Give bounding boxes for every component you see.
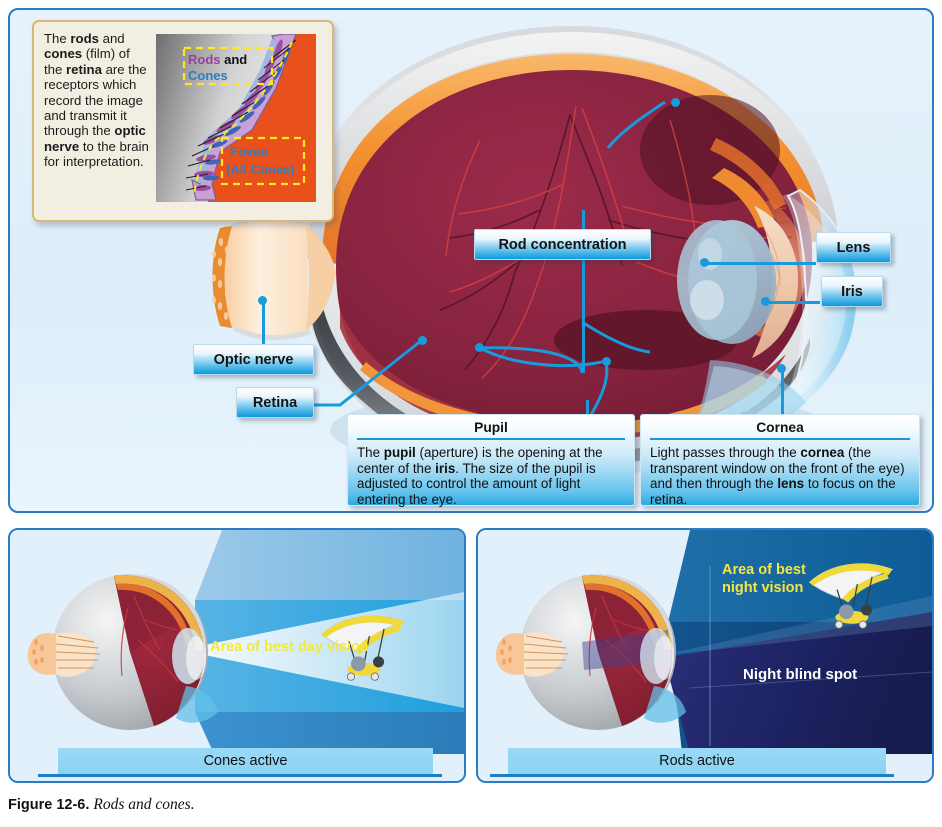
callout-iris-label: Iris — [841, 284, 863, 300]
night-vision-label-line1: Area of best — [722, 561, 806, 579]
description-cornea: Cornea Light passes through the cornea (… — [640, 414, 920, 506]
night-caption-text: Rods active — [659, 753, 735, 769]
callout-retina[interactable]: Retina — [236, 387, 314, 418]
night-vision-panel: Area of best night vision Night blind sp… — [476, 528, 934, 783]
inset-label-rods: Rods and — [188, 52, 247, 67]
rods-and-cones-inset-card: The rods and cones (film) of the retina … — [32, 20, 334, 222]
day-panel-caption: Cones active — [58, 748, 433, 774]
leader-dot-optic-nerve — [258, 296, 267, 305]
leader-dot-iris — [761, 297, 770, 306]
night-panel-caption: Rods active — [508, 748, 886, 774]
day-vision-label: Area of best day vision — [210, 638, 369, 656]
description-pupil-body: The pupil (aperture) is the opening at t… — [357, 445, 625, 507]
callout-lens-label: Lens — [837, 240, 871, 256]
inset-label-fovea-1: Fovea — [230, 144, 268, 159]
callout-lens[interactable]: Lens — [816, 232, 891, 263]
description-cornea-title: Cornea — [650, 420, 910, 440]
day-caption-text: Cones active — [204, 753, 288, 769]
night-blind-spot-label: Night blind spot — [743, 666, 857, 683]
day-vision-panel: Area of best day vision Cones active — [8, 528, 466, 783]
inset-label-cones: Cones — [188, 68, 228, 83]
night-vision-illustration — [478, 530, 932, 781]
leader-dot-lens — [700, 258, 709, 267]
callout-optic-nerve[interactable]: Optic nerve — [193, 344, 314, 375]
leader-dot-cornea — [777, 364, 786, 373]
inset-label-fovea-2: (All Cones) — [226, 162, 295, 177]
leader-lens — [704, 262, 816, 265]
callout-optic-nerve-label: Optic nerve — [214, 352, 294, 368]
leader-optic-nerve — [262, 300, 265, 350]
leader-iris — [765, 301, 820, 304]
figure-number: Figure 12-6. — [8, 797, 89, 813]
figure-title: Rods and cones. — [93, 796, 194, 813]
inset-retina-diagram: Rods and Cones Fovea (All Cones) — [156, 34, 316, 202]
description-pupil-title: Pupil — [357, 420, 625, 440]
description-pupil: Pupil The pupil (aperture) is the openin… — [347, 414, 635, 506]
leader-dot-retina — [418, 336, 427, 345]
leader-dot-rod-concentration — [671, 98, 680, 107]
callout-retina-label: Retina — [253, 395, 297, 411]
night-vision-label-line2: night vision — [722, 579, 806, 597]
callout-rod-concentration-label: Rod concentration — [498, 237, 626, 253]
day-caption-rule — [38, 774, 442, 777]
callout-iris[interactable]: Iris — [821, 276, 883, 307]
figure-caption: Figure 12-6. Rods and cones. — [8, 796, 195, 814]
callout-rod-concentration[interactable]: Rod concentration — [474, 229, 651, 260]
inset-paragraph: The rods and cones (film) of the retina … — [34, 22, 154, 220]
description-cornea-body: Light passes through the cornea (the tra… — [650, 445, 910, 507]
night-vision-label: Area of best night vision — [722, 561, 806, 597]
main-eye-panel: The rods and cones (film) of the retina … — [8, 8, 934, 513]
leader-dot-rod-arc-right — [602, 357, 611, 366]
night-caption-rule — [490, 774, 894, 777]
leader-dot-rod-arc-left — [475, 343, 484, 352]
leader-rod-concentration-down — [582, 258, 585, 373]
